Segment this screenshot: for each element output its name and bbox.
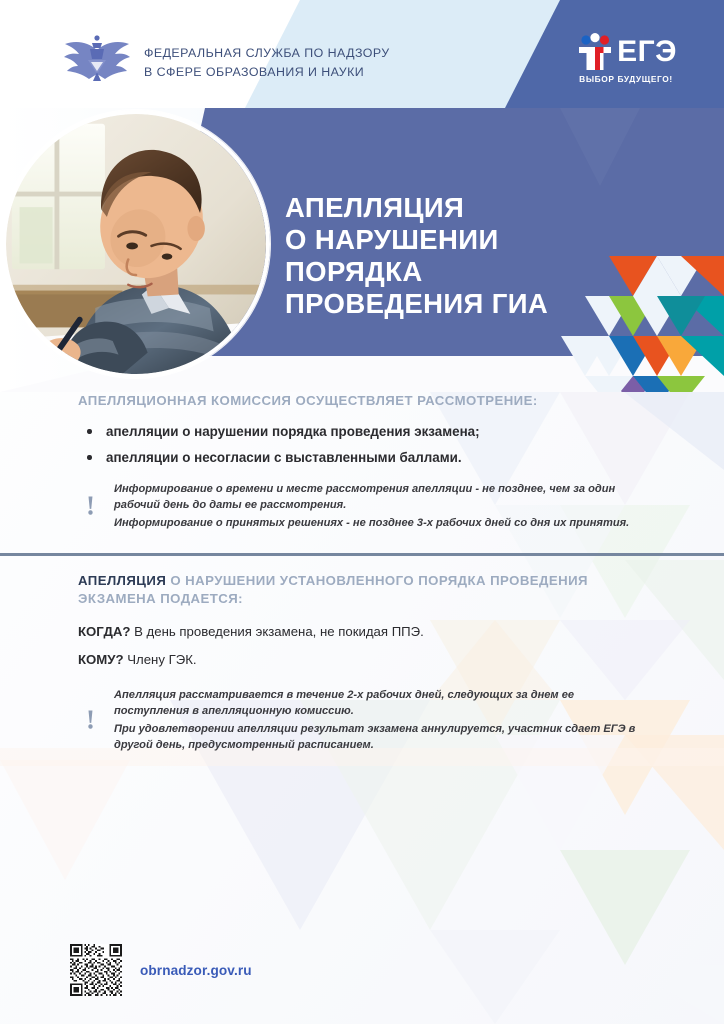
list-item: апелляции о нарушении порядка проведения… <box>78 422 646 441</box>
agency-name: ФЕДЕРАЛЬНАЯ СЛУЖБА ПО НАДЗОРУ В СФЕРЕ ОБ… <box>144 44 390 82</box>
qa-item-whom: КОМУ? Члену ГЭК. <box>78 650 646 669</box>
agency-name-line1: ФЕДЕРАЛЬНАЯ СЛУЖБА ПО НАДЗОРУ <box>144 44 390 63</box>
section2-note-line-1: Апелляция рассматривается в течение 2-х … <box>114 687 646 719</box>
page-footer: obrnadzor.gov.ru <box>0 944 724 996</box>
section1-bullet-list: апелляции о нарушении порядка проведения… <box>78 422 646 467</box>
hero-banner: АПЕЛЛЯЦИЯ О НАРУШЕНИИ ПОРЯДКА ПРОВЕДЕНИЯ… <box>0 96 724 392</box>
exclamation-icon: ! <box>86 493 95 520</box>
ege-wordmark: ЕГЭ <box>617 37 677 67</box>
qa-item-when: КОГДА? В день проведения экзамена, не по… <box>78 622 646 641</box>
exclamation-icon: ! <box>86 707 95 734</box>
section2-note: ! Апелляция рассматривается в течение 2-… <box>78 687 646 753</box>
page-title-line-3: ПОРЯДКА <box>285 256 548 288</box>
rosobrnadzor-emblem-icon <box>62 34 132 86</box>
section2-note-line-2: При удовлетворении апелляции результат э… <box>114 721 646 753</box>
page-title: АПЕЛЛЯЦИЯ О НАРУШЕНИИ ПОРЯДКА ПРОВЕДЕНИЯ… <box>285 192 548 320</box>
ege-logo: ЕГЭ ВЫБОР БУДУЩЕГО! <box>566 32 686 90</box>
section2-heading-strong: АПЕЛЛЯЦИЯ <box>78 573 166 588</box>
website-link[interactable]: obrnadzor.gov.ru <box>140 963 252 978</box>
qr-code[interactable] <box>70 944 122 996</box>
page-title-line-1: АПЕЛЛЯЦИЯ <box>285 192 548 224</box>
section1-note-line-1: Информирование о времени и месте рассмот… <box>114 481 646 513</box>
ege-tagline: ВЫБОР БУДУЩЕГО! <box>566 74 686 84</box>
section1-note: ! Информирование о времени и месте рассм… <box>78 481 646 531</box>
qa-text-whom: Члену ГЭК. <box>124 652 197 667</box>
section-commission-review: АПЕЛЛЯЦИОННАЯ КОМИССИЯ ОСУЩЕСТВЛЯЕТ РАСС… <box>0 392 724 531</box>
qa-label-when: КОГДА? <box>78 624 130 639</box>
section2-heading: АПЕЛЛЯЦИЯ О НАРУШЕНИИ УСТАНОВЛЕННОГО ПОР… <box>78 572 646 608</box>
section1-note-line-2: Информирование о принятых решениях - не … <box>114 515 646 531</box>
section1-heading: АПЕЛЛЯЦИОННАЯ КОМИССИЯ ОСУЩЕСТВЛЯЕТ РАСС… <box>78 392 646 410</box>
page-title-line-2: О НАРУШЕНИИ <box>285 224 548 256</box>
section2-qa-list: КОГДА? В день проведения экзамена, не по… <box>78 622 646 669</box>
qa-label-whom: КОМУ? <box>78 652 124 667</box>
ege-figure-icon <box>575 33 615 71</box>
qa-text-when: В день проведения экзамена, не покидая П… <box>130 624 423 639</box>
student-photo <box>2 110 270 378</box>
agency-name-line2: В СФЕРЕ ОБРАЗОВАНИЯ И НАУКИ <box>144 63 390 82</box>
main-content: АПЕЛЛЯЦИОННАЯ КОМИССИЯ ОСУЩЕСТВЛЯЕТ РАСС… <box>0 392 724 755</box>
page-title-line-4: ПРОВЕДЕНИЯ ГИА <box>285 288 548 320</box>
section-how-to-file: АПЕЛЛЯЦИЯ О НАРУШЕНИИ УСТАНОВЛЕННОГО ПОР… <box>0 556 724 753</box>
list-item: апелляции о несогласии с выставленными б… <box>78 448 646 467</box>
